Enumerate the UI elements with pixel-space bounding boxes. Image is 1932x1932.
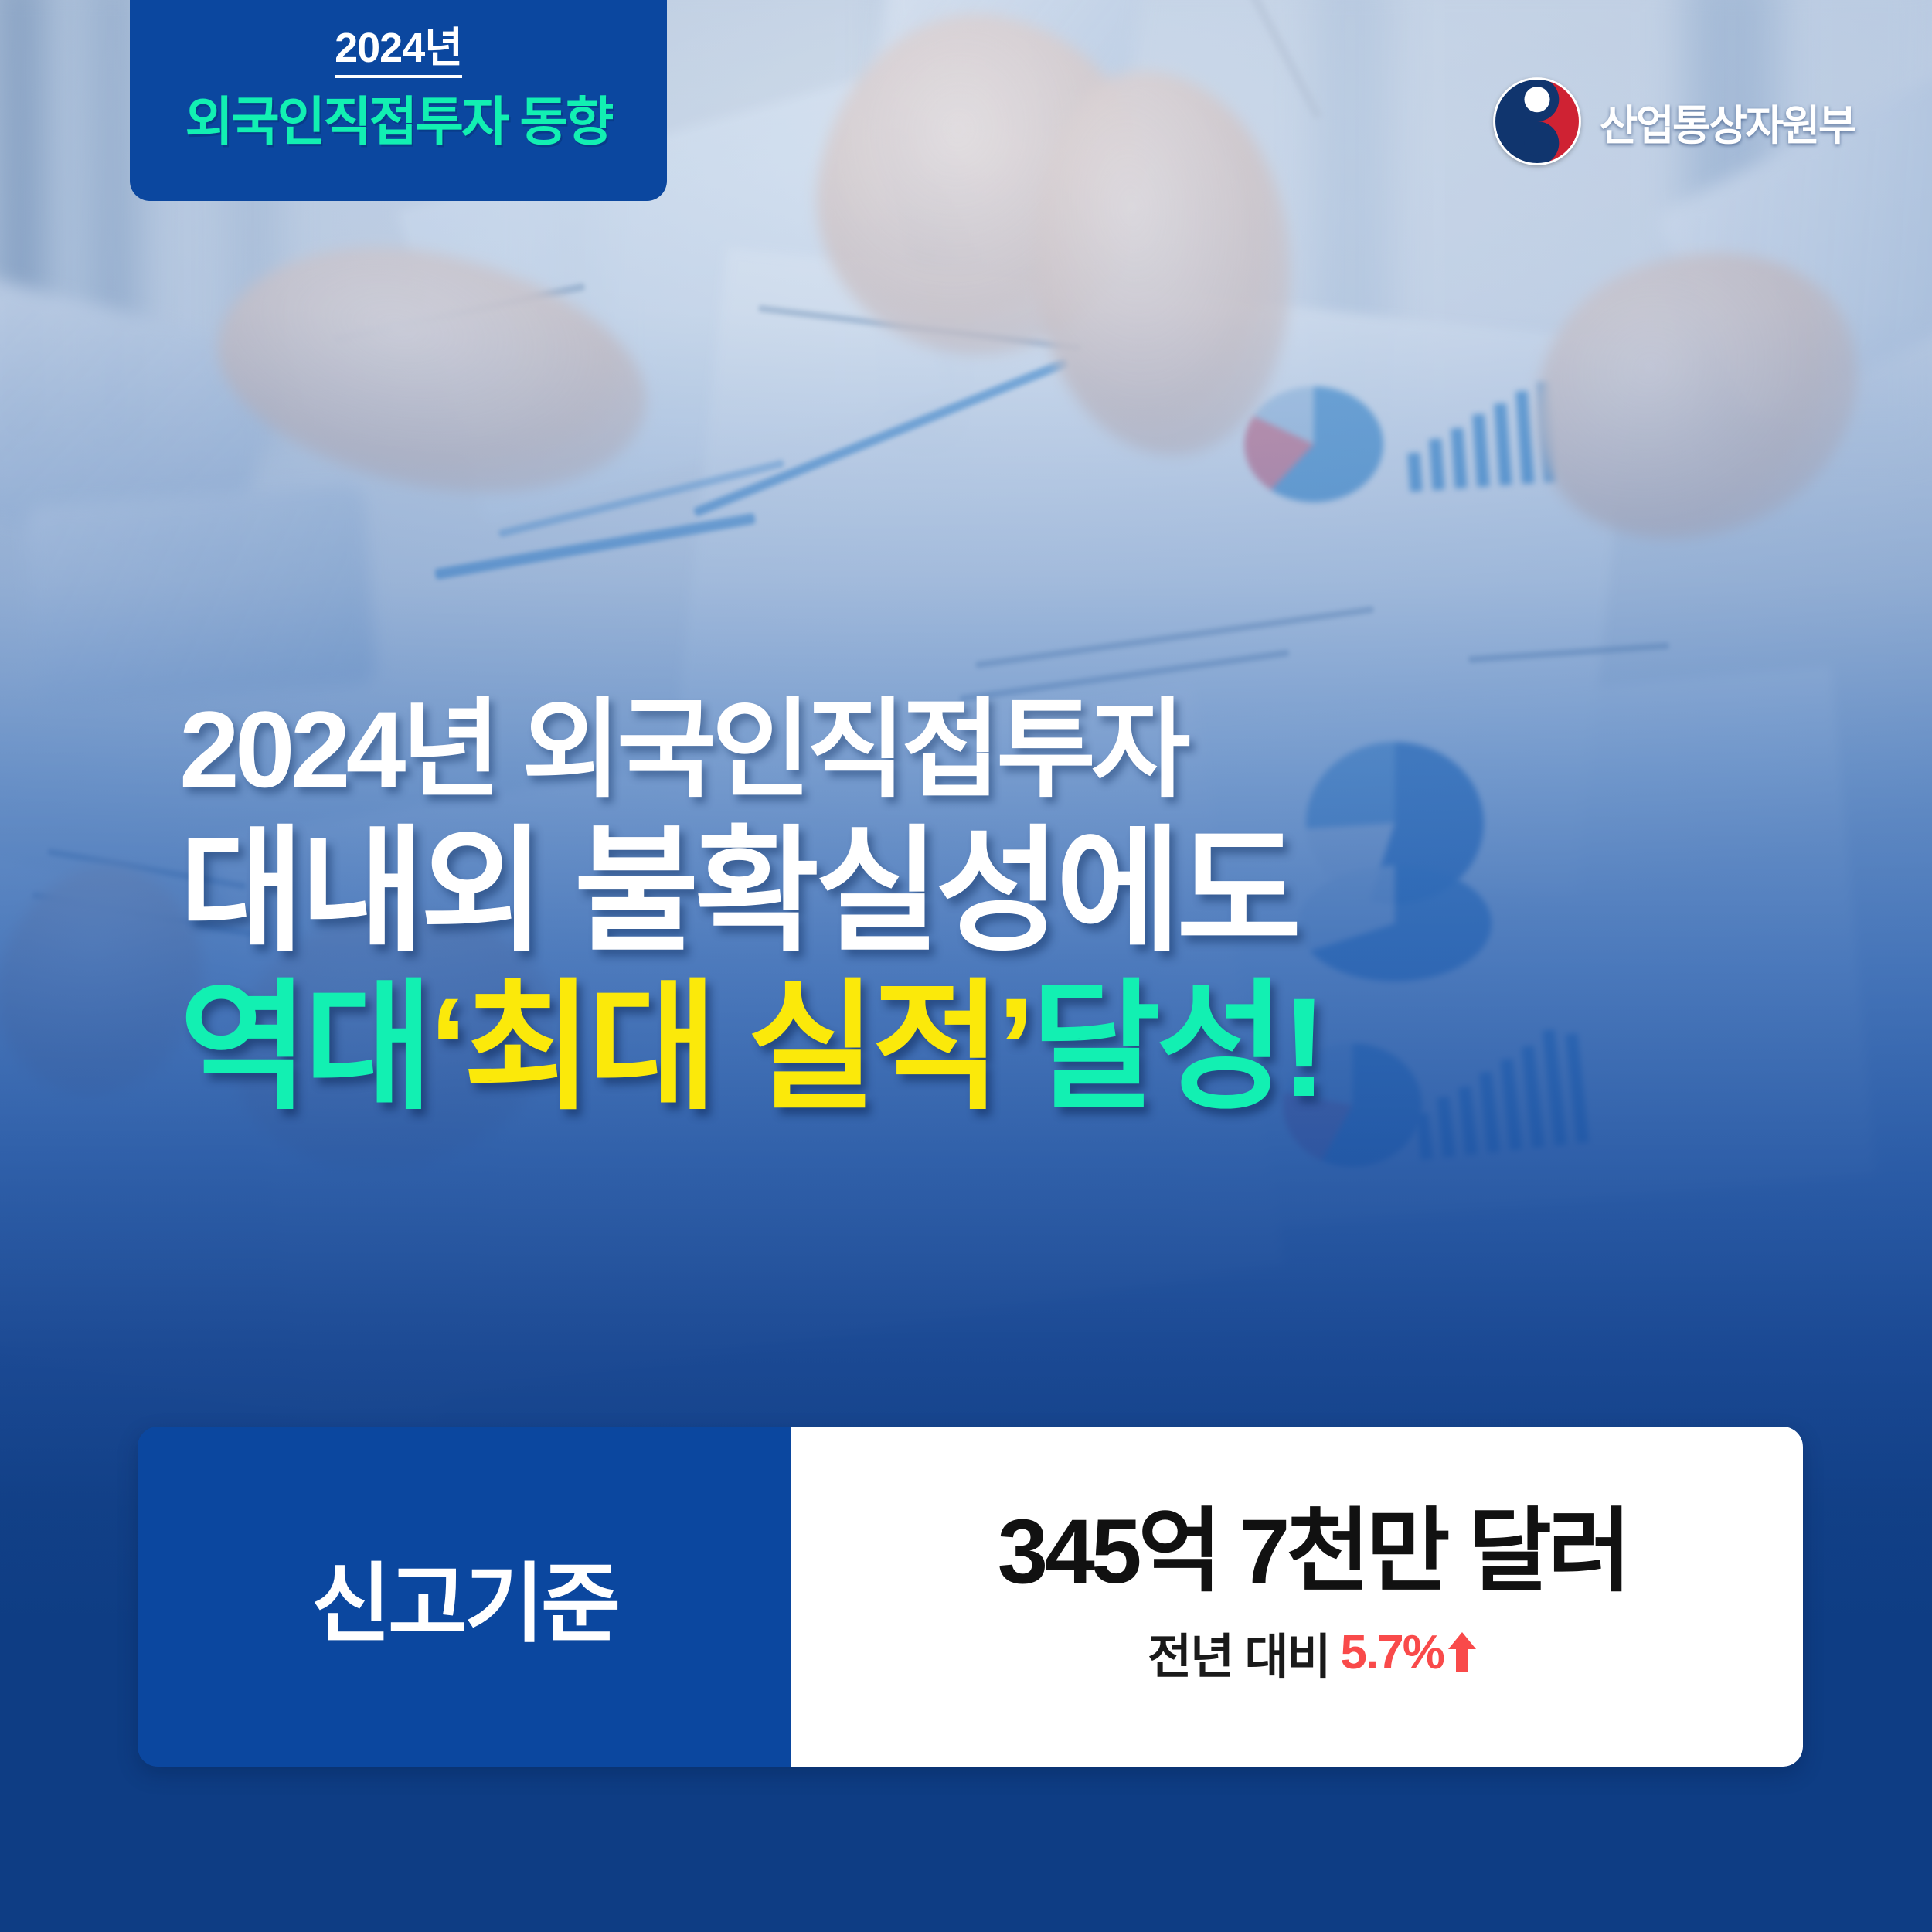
ministry-name: 산업통상자원부	[1600, 91, 1855, 152]
headline-line-3: 역대‘최대 실적’달성!	[179, 977, 1932, 1117]
topic-badge: 2024년 외국인직접투자 동향	[130, 0, 667, 201]
korea-government-taegeuk-emblem-icon	[1492, 76, 1583, 167]
badge-year: 2024년	[335, 26, 462, 78]
headline-line-2: 대내외 불확실성에도	[179, 824, 1932, 960]
headline-block: 2024년 외국인직접투자 대내외 불확실성에도 역대‘최대 실적’달성!	[0, 696, 1932, 1117]
headline-line-3-part-2: ‘최대 실적’	[429, 968, 1031, 1126]
stat-basis-label: 신고기준	[311, 1534, 617, 1659]
stat-value: 345억 7천만 달러	[998, 1506, 1628, 1597]
headline-line-1: 2024년 외국인직접투자	[179, 696, 1932, 804]
badge-title: 외국인직접투자 동향	[130, 95, 667, 150]
stat-value-panel: 345억 7천만 달러 전년 대비 5.7%	[791, 1427, 1803, 1767]
stat-card: 신고기준 345억 7천만 달러 전년 대비 5.7%	[138, 1427, 1803, 1767]
infographic-card: 2024년 외국인직접투자 동향 산업통상자원부 2024년 외국인직접투자 대…	[0, 0, 1932, 1932]
headline-line-3-part-1: 역대	[179, 968, 429, 1126]
stat-change-row: 전년 대비 5.7%	[1148, 1617, 1478, 1687]
stat-change-percent: 5.7%	[1341, 1625, 1444, 1680]
arrow-up-icon	[1447, 1632, 1478, 1672]
stat-basis-panel: 신고기준	[138, 1427, 791, 1767]
badge-year-wrapper: 2024년	[130, 26, 667, 78]
headline-line-3-part-3: 달성!	[1031, 968, 1323, 1126]
ministry-logo: 산업통상자원부	[1492, 76, 1855, 167]
stat-compare-label: 전년 대비	[1148, 1617, 1329, 1687]
